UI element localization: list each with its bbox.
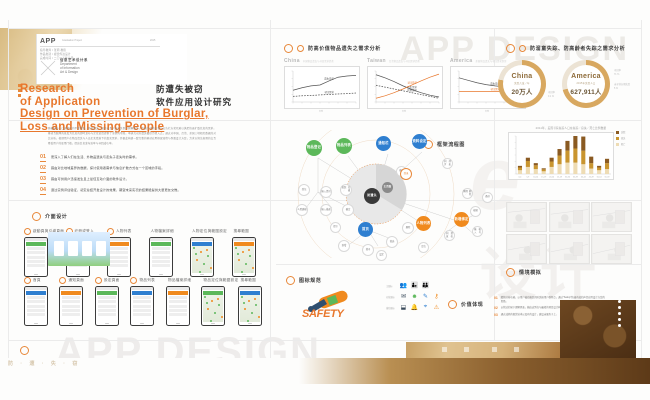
- phone-screen: [234, 242, 254, 274]
- line-chart-row: China中国物品遗失与寻回需求趋势遗失需求寻回需求年份Taiwan台湾物品遗失…: [284, 58, 524, 113]
- phone-screen: [240, 291, 260, 323]
- ring-icon: [24, 277, 31, 284]
- donut-name: America: [570, 73, 601, 80]
- phone-label-row: 搜尋範圍: [238, 277, 273, 284]
- svg-text:35-39: 35-39: [573, 176, 578, 178]
- value-section-label: 价值体现: [461, 301, 483, 308]
- phone-screen: [132, 291, 152, 323]
- svg-text:遗失需求: 遗失需求: [324, 76, 334, 80]
- phone-mockup[interactable]: [59, 286, 83, 326]
- warning-icon: ⚠: [433, 304, 440, 311]
- donut-value: 627,911人: [570, 86, 601, 96]
- list-item-number: 04: [40, 188, 46, 195]
- list-item-text: 更深入了解人们在生活、外物品遗失与走失子走失时的需求。: [51, 155, 139, 159]
- intro-paragraph: 随着城市人口流动性的不断增加，物品遗失、被窃以及人员走失事件频繁发生，传统的寻物…: [48, 126, 216, 147]
- phone-cell[interactable]: 通知頁面: [59, 277, 94, 326]
- diagram-subnode[interactable]: 拍照／扫描: [340, 184, 352, 196]
- onboarding-wide-mock: [48, 232, 110, 266]
- icon-section-label: 图标规范: [299, 277, 321, 284]
- guide-line-v-left: [8, 20, 9, 380]
- phone-mockup[interactable]: [201, 286, 225, 326]
- edit-icon: ✎: [422, 293, 429, 300]
- phone-home-indicator: [76, 274, 80, 275]
- donut-note-b: 未寻获长期失踪 5 %: [614, 84, 630, 91]
- line-chart-plot: 遗失需求寻回需求其他需求: [367, 66, 443, 109]
- legend-label: 失踪: [621, 130, 625, 134]
- phone-home-indicator: [105, 323, 109, 324]
- phone-label-row: 物品列表: [130, 277, 165, 284]
- bar-chart-plot: 0-45-910-1415-1920-2425-2930-3435-3940-4…: [508, 132, 614, 180]
- header-rule: [40, 46, 160, 47]
- donut-note: 寻回率 0.1 %: [548, 92, 555, 99]
- line-chart-title: Taiwan: [367, 58, 386, 64]
- icon-row: 功能图标✉☻✎⚷: [386, 293, 440, 300]
- objective-list: 01 更深入了解人们在生活、外物品遗失与走失子走失时的需求。 02 藉由对比地域…: [40, 155, 220, 199]
- phone-cell[interactable]: 人物列表: [107, 228, 149, 277]
- header-logo-meta-right: 2015: [150, 39, 155, 42]
- phone-label: 物品列表: [139, 278, 155, 283]
- donut-note-a: 寻回率 71 %: [614, 70, 621, 77]
- guide-line-v1: [270, 20, 271, 380]
- person-icon: ☻: [411, 293, 418, 300]
- phone-screen: [26, 291, 46, 323]
- ring-icon: [95, 277, 102, 284]
- diagram-node[interactable]: 物品列表: [336, 138, 352, 154]
- family-icon: 👪: [422, 282, 429, 289]
- phone-home-indicator: [211, 323, 215, 324]
- phone-label: 搜尋範圍: [240, 278, 256, 283]
- story-section-header: 情境模拟: [506, 268, 541, 277]
- phone-label-row: 物品定位與範圍設定: [201, 277, 238, 284]
- donut-sub: 2015年失踪人口: [570, 81, 601, 85]
- list-item-number: 01: [40, 155, 46, 162]
- phone-label: 通知頁面: [68, 278, 84, 283]
- phone-cell[interactable]: 首頁: [24, 277, 59, 326]
- guide-line-mid2: [276, 264, 642, 265]
- svg-text:50-54: 50-54: [597, 176, 602, 178]
- title-en-line3: Design on Prevention of Burglar,: [20, 108, 209, 121]
- phone-cell[interactable]: 物品定位與範圍設定: [201, 277, 238, 326]
- ring-icon: [59, 277, 66, 284]
- header-logo: APP: [40, 38, 56, 45]
- phone-cell[interactable]: 人物檔案詳細: [149, 228, 191, 277]
- line-chart-title: China: [284, 58, 300, 64]
- list-item-text: 通过实例评估验证，初定总结开发设计的效果，期望未来实况的结果能提供大量更友交惟。: [51, 188, 181, 192]
- footer-marker: [20, 346, 29, 355]
- phone-screen: [151, 242, 171, 274]
- phone-screen: [168, 291, 188, 323]
- ring-icon: [506, 268, 515, 277]
- svg-text:15-19: 15-19: [541, 176, 546, 178]
- user-group-icon: 👥: [400, 282, 407, 289]
- line-chart-china: China中国物品遗失与寻回需求趋势遗失需求寻回需求年份: [284, 58, 358, 113]
- phone-home-indicator: [69, 323, 73, 324]
- ring-icon: [286, 276, 295, 285]
- guide-line-bottom: [8, 340, 642, 341]
- svg-text:其他需求: 其他需求: [407, 88, 417, 92]
- diagram-center-badge[interactable]: 登录: [400, 168, 412, 180]
- ui-section-label: 介面设计: [45, 213, 67, 220]
- legend-item: 死亡: [616, 142, 625, 146]
- legend-item: 失踪: [616, 130, 625, 134]
- donut-section-label: 防溜童失踪、防高龄者失踪之需求分析: [530, 45, 625, 52]
- line-chart-xlabel: 年份: [367, 110, 441, 113]
- storyboard-frame: [591, 234, 632, 264]
- ring-icon: [506, 44, 515, 53]
- phone-label-row: 人物列表: [107, 228, 149, 235]
- phone-label: 人物列表: [116, 229, 132, 234]
- phone-mockup[interactable]: [166, 286, 190, 326]
- donut-section-header: 防溜童失踪、防高龄者失踪之需求分析: [506, 44, 625, 53]
- diagram-subnode[interactable]: 解除／删除: [462, 188, 473, 199]
- message-icon: ✉: [400, 293, 407, 300]
- icon-row: 主图标👥👨‍👦👪: [386, 282, 440, 289]
- icon-group-label: 主图标: [386, 284, 396, 288]
- list-item-number: 02: [40, 166, 46, 173]
- svg-text:0-4: 0-4: [519, 176, 522, 178]
- diagram-node[interactable]: 新增绑定: [454, 212, 469, 227]
- svg-text:25-29: 25-29: [557, 176, 562, 178]
- phone-mockup[interactable]: [130, 286, 154, 326]
- list-item-text: 藉由对比地域差异的数据，探讨使用者需求与信息扩散方式在一个区域的手段。: [51, 166, 165, 170]
- icon-section-header: 图标规范: [286, 276, 321, 285]
- ring-icon: [32, 212, 41, 221]
- phone-label: 搜尋範圍: [234, 229, 250, 234]
- page-dots: [618, 300, 621, 330]
- footer-cjk: 防 · 遭 · 失 · 窃: [8, 360, 80, 367]
- line-chart-taiwan: Taiwan台湾物品遗失与寻回需求趋势遗失需求寻回需求其他需求年份: [367, 58, 441, 113]
- storyboard-frame: [506, 234, 547, 264]
- donut-china: China 失踪儿童／年 20万人: [498, 60, 546, 108]
- diagram-node[interactable]: 物品登记: [306, 140, 322, 156]
- poster-canvas: APP DESIGN e 设计 APP DESIGN APP Graduatio…: [0, 0, 650, 400]
- chart-section-header: 防高价值物品遗失之需求分析: [284, 44, 381, 53]
- donut-name: China: [511, 73, 532, 80]
- phone-home-indicator: [117, 274, 121, 275]
- ui-section-header: 介面设计: [32, 212, 67, 221]
- svg-text:40-44: 40-44: [581, 176, 586, 178]
- phone-cell[interactable]: 設定頁面: [95, 277, 130, 326]
- diagram-subnode[interactable]: 备份: [482, 192, 493, 203]
- wood-footer: [0, 358, 650, 384]
- bar-chart-section: 2011年，美国寻获失踪人口在失踪／窃失／死亡比例数据 0-45-910-141…: [508, 126, 634, 180]
- wood-photo: [560, 300, 636, 362]
- storyboard-frame: [591, 202, 632, 232]
- phone-screen: [192, 242, 212, 274]
- phone-label: 物品檔案詳細: [168, 278, 191, 283]
- diagram-subnode[interactable]: 输入帐号: [472, 226, 483, 237]
- line-chart-xlabel: 年份: [450, 110, 524, 113]
- diagram-node[interactable]: 人物列表: [416, 216, 431, 231]
- location-icon: ⌖: [422, 304, 429, 311]
- safety-logo: SAFETY: [298, 286, 378, 322]
- diagram-center-node[interactable]: 防遭失: [364, 188, 380, 204]
- phone-mockup-grid: 啟動頁與引導頁面註冊或登入人物列表人物檔案詳細人物定位與範圍設定搜尋範圍首頁通知…: [24, 228, 274, 326]
- ring-icon: [448, 300, 457, 309]
- list-item: 01 更深入了解人们在生活、外物品遗失与走失子走失时的需求。: [40, 155, 220, 162]
- phone-label: 人物檔案詳細: [151, 229, 174, 234]
- phone-mockup[interactable]: [149, 237, 173, 277]
- phone-row: 啟動頁與引導頁面註冊或登入人物列表人物檔案詳細人物定位與範圍設定搜尋範圍: [24, 228, 274, 277]
- phone-screen: [109, 242, 129, 274]
- svg-text:10-14: 10-14: [533, 176, 538, 178]
- phone-home-indicator: [159, 274, 163, 275]
- phone-screen: [203, 291, 223, 323]
- ring-icon: [284, 44, 293, 53]
- ring-icon: [24, 228, 31, 235]
- phone-home-indicator: [200, 274, 204, 275]
- phone-label: 設定頁面: [104, 278, 120, 283]
- diagram-subnode[interactable]: 确定: [342, 204, 354, 216]
- svg-text:寻回需求: 寻回需求: [407, 80, 417, 84]
- phone-mockup[interactable]: [232, 237, 256, 277]
- phone-label: 物品定位與範圍設定: [203, 278, 238, 283]
- ring-icon-small: [297, 45, 304, 52]
- legend-swatch: [616, 143, 619, 146]
- phone-mockup[interactable]: [190, 237, 214, 277]
- x-mark-icon: [40, 60, 56, 76]
- donut-america: America 2015年失踪人口 627,911人: [562, 60, 610, 108]
- list-item-text: 藉由可供用户迅速发生且上最佳互动介面的软件设计。: [51, 177, 129, 181]
- phone-label-row: 物品檔案詳細: [166, 277, 201, 284]
- svg-text:45-49: 45-49: [589, 176, 594, 178]
- phone-cell[interactable]: 物品檔案詳細: [166, 277, 201, 326]
- phone-screen: [26, 242, 46, 274]
- list-item: 04 通过实例评估验证，初定总结开发设计的效果，期望未来实况的结果能提供大量更友…: [40, 188, 220, 195]
- safety-logo-text: SAFETY: [302, 308, 344, 320]
- phone-home-indicator: [242, 274, 246, 275]
- diagram-node[interactable]: 首页: [358, 222, 373, 237]
- icon-row: 辅助图标⬓🔔⌖⚠: [386, 304, 440, 311]
- phone-cell[interactable]: 搜尋範圍: [238, 277, 273, 326]
- parent-child-icon: 👨‍👦: [411, 282, 418, 289]
- phone-cell[interactable]: 人物定位與範圍設定: [190, 228, 232, 277]
- line-chart-subtitle: 台湾物品遗失与寻回需求趋势: [389, 59, 420, 63]
- value-section-header: 价值体现: [448, 300, 483, 309]
- diagram-center-sub[interactable]: 主页面: [382, 182, 393, 193]
- diagram-subnode[interactable]: 输入资讯: [320, 186, 332, 198]
- guide-line-top: [8, 28, 642, 29]
- legend-item: 窃失: [616, 136, 625, 140]
- phone-screen: [61, 291, 81, 323]
- diagram-node[interactable]: 通知栏: [376, 136, 391, 151]
- svg-text:寻回需求: 寻回需求: [324, 90, 334, 94]
- list-item-number: 02: [494, 306, 498, 310]
- header-logo-meta-left: Graduation Project: [62, 39, 82, 42]
- donut-value: 20万人: [511, 86, 532, 96]
- dept-name-en-3: Art & Design: [60, 70, 78, 76]
- storyboard-frame: [506, 202, 547, 232]
- diagram-subnode[interactable]: 设定: [376, 250, 387, 261]
- list-item: 03 藉由可供用户迅速发生且上最佳互动介面的软件设计。: [40, 177, 220, 184]
- title-cjk-line2: 软件应用设计研究: [156, 96, 232, 109]
- legend-swatch: [616, 131, 619, 134]
- storyboard-frame: [549, 234, 590, 264]
- phone-home-indicator: [248, 323, 252, 324]
- legend-label: 窃失: [621, 136, 625, 140]
- phone-home-indicator: [176, 323, 180, 324]
- phone-home-indicator: [34, 323, 38, 324]
- diagram-subnode[interactable]: 定位: [418, 242, 429, 253]
- line-chart-title: America: [450, 58, 473, 64]
- diagram-subnode[interactable]: 提示: [330, 222, 341, 233]
- line-chart-xlabel: 年份: [284, 110, 358, 113]
- phone-screen: [97, 291, 117, 323]
- svg-text:55-59: 55-59: [605, 176, 610, 178]
- svg-text:20-24: 20-24: [549, 176, 554, 178]
- line-chart-plot: 遗失需求寻回需求: [284, 66, 360, 109]
- phone-label-row: 人物定位與範圍設定: [190, 228, 232, 235]
- storyboard-frame: [549, 202, 590, 232]
- bell-icon: 🔔: [411, 304, 418, 311]
- icon-grid: 主图标👥👨‍👦👪功能图标✉☻✎⚷辅助图标⬓🔔⌖⚠: [386, 282, 440, 315]
- svg-text:30-34: 30-34: [565, 176, 570, 178]
- key-icon: ⚷: [433, 293, 440, 300]
- phone-mockup[interactable]: [95, 286, 119, 326]
- diagram-subnode[interactable]: 筛选: [386, 236, 398, 248]
- storyboard-photos: [506, 202, 632, 264]
- guide-line-v-right: [641, 20, 642, 380]
- phone-mockup[interactable]: [24, 237, 48, 277]
- legend-swatch: [616, 137, 619, 140]
- ring-icon-small: [519, 45, 526, 52]
- icon-group-label: 功能图标: [386, 295, 396, 299]
- svg-text:5-9: 5-9: [527, 176, 530, 178]
- diagram-subnode[interactable]: 人脸建模: [296, 204, 308, 216]
- diagram-subnode[interactable]: 新增: [338, 240, 350, 252]
- title-cjk-line1: 防遭失被窃: [156, 83, 204, 96]
- phone-row: 首頁通知頁面設定頁面物品列表物品檔案詳細物品定位與範圍設定搜尋範圍: [24, 277, 274, 326]
- phone-label-row: 通知頁面: [59, 277, 94, 284]
- phone-mockup[interactable]: [107, 237, 131, 277]
- framework-diagram: 物品登记物品列表通知栏资料设定首页人物列表新增绑定登记输入资讯拍照／扫描人脸建模…: [276, 130, 496, 258]
- phone-mockup[interactable]: [24, 286, 48, 326]
- list-item-number: 03: [494, 313, 498, 317]
- legend-label: 死亡: [621, 142, 625, 146]
- chart-section-label: 防高价值物品遗失之需求分析: [308, 45, 381, 52]
- ring-icon: [130, 277, 137, 284]
- diagram-subnode[interactable]: 编辑: [470, 206, 481, 217]
- bag-icon: ⬓: [400, 304, 407, 311]
- list-item: 02 藉由对比地域差异的数据，探讨使用者需求与信息扩散方式在一个区域的手段。: [40, 166, 220, 173]
- story-section-label: 情境模拟: [519, 269, 541, 276]
- phone-label: 人物定位與範圍設定: [192, 229, 227, 234]
- donut-sub: 失踪儿童／年: [511, 81, 532, 85]
- icon-group-label: 辅助图标: [386, 306, 396, 310]
- phone-mockup[interactable]: [238, 286, 262, 326]
- donut-stats: China 失踪儿童／年 20万人 寻回率 0.1 % America 2015…: [498, 60, 610, 108]
- list-item-text: 通过成熟的视觉技术以及有的设计，建设未服务于上。: [501, 313, 558, 317]
- phone-label-row: 首頁: [24, 277, 59, 284]
- diagram-subnode[interactable]: 搜寻: [362, 244, 374, 256]
- diagram-subnode[interactable]: 删除: [402, 222, 414, 234]
- phone-label-row: 人物檔案詳細: [149, 228, 191, 235]
- diagram-subnode[interactable]: 登记: [298, 184, 310, 196]
- phone-cell[interactable]: 物品列表: [130, 277, 165, 326]
- diagram-node[interactable]: 资料设定: [412, 134, 427, 149]
- phone-cell[interactable]: 搜尋範圍: [232, 228, 274, 277]
- diagram-subnode[interactable]: 同步列表: [442, 158, 453, 169]
- phone-label-row: 設定頁面: [95, 277, 130, 284]
- diagram-subnode[interactable]: 输入描述: [320, 204, 332, 216]
- phone-label: 首頁: [33, 278, 41, 283]
- list-item-number: 01: [494, 296, 498, 303]
- line-chart-subtitle: 中国物品遗失与寻回需求趋势: [303, 59, 334, 63]
- ring-icon: [20, 346, 29, 355]
- list-item-number: 03: [40, 177, 46, 184]
- phone-label-row: 搜尋範圍: [232, 228, 274, 235]
- phone-home-indicator: [34, 274, 38, 275]
- diagram-subnode[interactable]: 同意授权: [444, 230, 455, 241]
- bar-chart-legend: 失踪窃失死亡: [616, 130, 625, 148]
- phone-home-indicator: [140, 323, 144, 324]
